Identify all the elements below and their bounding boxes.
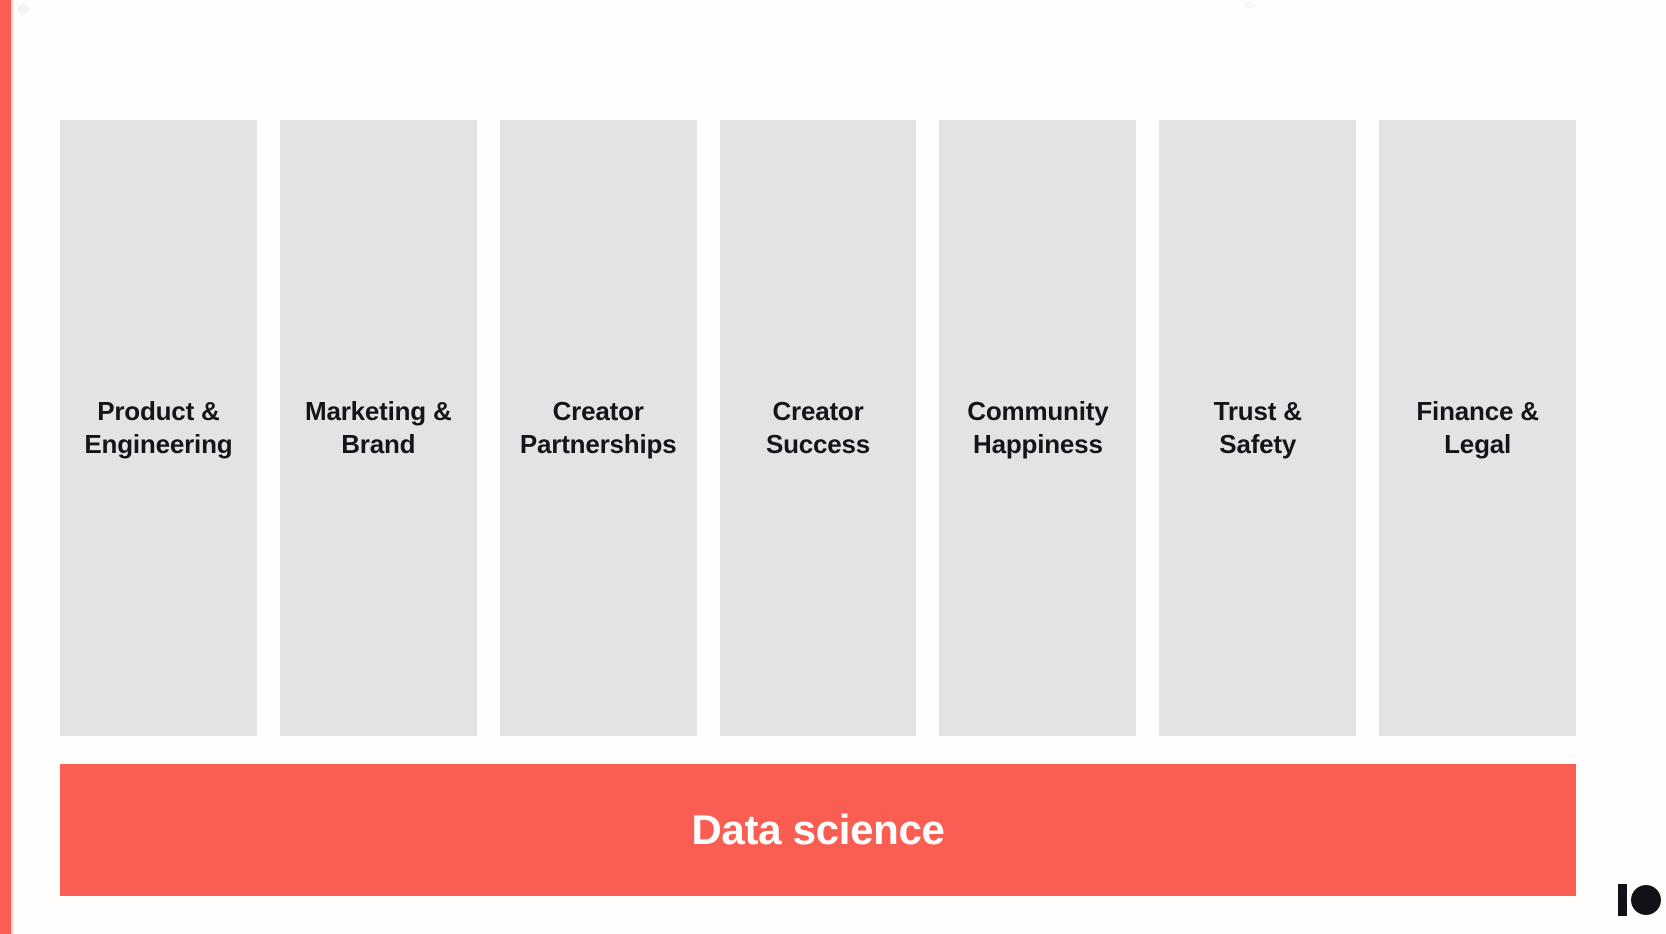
pillar-label: Marketing & Brand [305,395,452,462]
scan-artifact-top-center [1243,1,1255,9]
pillar-label: Creator Partnerships [520,395,677,462]
pillar-creator-partnerships: Creator Partnerships [500,120,697,736]
pillar-label: Finance & Legal [1416,395,1538,462]
pillar-marketing-brand: Marketing & Brand [280,120,477,736]
scan-artifact-top-left [17,4,29,14]
patreon-logo [1618,882,1662,918]
slide-canvas: Product & Engineering Marketing & Brand … [0,0,1666,934]
pillar-label: Community Happiness [967,395,1108,462]
pillar-label: Product & Engineering [84,395,232,462]
pillar-community-happiness: Community Happiness [939,120,1136,736]
foundation-bar: Data science [60,764,1576,896]
left-accent-bar [0,0,11,934]
pillar-label: Trust & Safety [1214,395,1302,462]
foundation-label: Data science [691,806,944,854]
pillar-finance-legal: Finance & Legal [1379,120,1576,736]
patreon-logo-bar [1618,884,1627,916]
left-accent-bar-shadow [11,0,15,934]
pillar-product-engineering: Product & Engineering [60,120,257,736]
pillar-trust-safety: Trust & Safety [1159,120,1356,736]
pillar-creator-success: Creator Success [720,120,917,736]
pillar-label: Creator Success [766,395,870,462]
patreon-logo-dot [1631,885,1661,915]
pillar-group: Product & Engineering Marketing & Brand … [60,120,1576,736]
